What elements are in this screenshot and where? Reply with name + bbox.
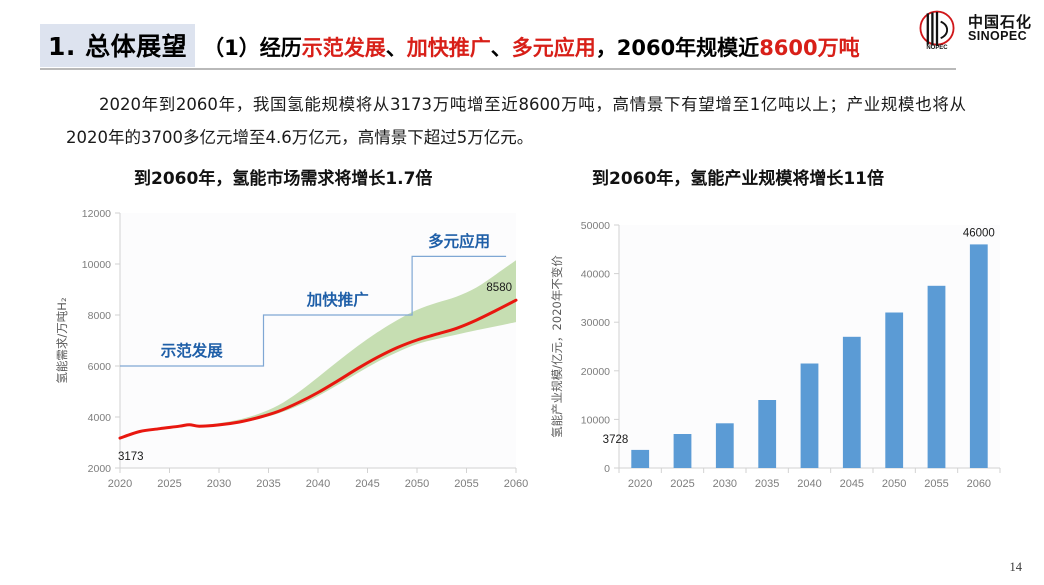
plot-area-background	[120, 213, 516, 468]
x-tick-label: 2055	[454, 478, 478, 490]
title-sep-2: 、	[491, 36, 512, 60]
y-tick-label: 4000	[88, 412, 112, 424]
x-tick-label: 2045	[840, 478, 864, 490]
slide-canvas: NOPEC 中国石化 SINOPEC 1. 总体展望 （1）经历示范发展、加快推…	[0, 0, 1044, 585]
x-tick-label: 2040	[306, 478, 330, 490]
x-tick-label: 2020	[628, 478, 652, 490]
x-tick-label: 2020	[108, 478, 132, 490]
y-tick-label: 0	[604, 463, 610, 475]
bar-2030	[716, 423, 734, 468]
x-tick-label: 2040	[797, 478, 821, 490]
phase-label-加快推广: 加快推广	[306, 290, 369, 309]
title-sep-1: 、	[386, 36, 407, 60]
title-section-chip: 1. 总体展望	[40, 24, 195, 67]
chart-title-demand: 到2060年，氢能市场需求将增长1.7倍	[134, 164, 432, 189]
y-axis-title: 氢能产业规模/亿元，2020年不变价	[550, 255, 564, 438]
x-tick-label: 2035	[755, 478, 779, 490]
svg-text:NOPEC: NOPEC	[926, 45, 948, 51]
y-tick-label: 10000	[581, 414, 610, 426]
y-tick-label: 20000	[581, 366, 610, 378]
x-tick-label: 2045	[355, 478, 379, 490]
data-label-8580: 8580	[486, 282, 512, 294]
chart-hydrogen-demand: 2000400060008000100001200020202025203020…	[48, 205, 528, 500]
y-tick-label: 2000	[88, 463, 112, 475]
y-tick-label: 8000	[88, 310, 112, 322]
x-tick-label: 2025	[157, 478, 181, 490]
bar-2025	[674, 434, 692, 468]
y-tick-label: 6000	[88, 361, 112, 373]
data-label-3728: 3728	[603, 434, 629, 446]
title-keyword-2: 加快推广	[407, 36, 491, 60]
x-tick-label: 2060	[504, 478, 528, 490]
data-label-3173: 3173	[118, 451, 144, 463]
bar-2055	[928, 286, 946, 468]
x-tick-label: 2030	[713, 478, 737, 490]
bar-2050	[885, 313, 903, 469]
phase-label-示范发展: 示范发展	[161, 341, 224, 360]
sinopec-logo: NOPEC 中国石化 SINOPEC	[914, 6, 1032, 52]
title-middle: ，2060年规模近	[596, 36, 759, 60]
x-tick-label: 2060	[967, 478, 991, 490]
title-statement: （1）经历示范发展、加快推广、多元应用，2060年规模近8600万吨	[203, 32, 860, 62]
sinopec-logo-icon: NOPEC	[914, 6, 960, 52]
x-tick-label: 2050	[405, 478, 429, 490]
y-axis-title: 氢能需求/万吨H₂	[55, 297, 69, 383]
logo-text-cn: 中国石化	[968, 15, 1032, 31]
chart-hydrogen-industry-scale-svg: 01000020000300004000050000氢能产业规模/亿元，2020…	[545, 205, 1010, 500]
chart-hydrogen-industry-scale: 01000020000300004000050000氢能产业规模/亿元，2020…	[545, 205, 1010, 500]
y-tick-label: 30000	[581, 317, 610, 329]
bar-2045	[843, 337, 861, 468]
y-tick-label: 40000	[581, 269, 610, 281]
x-tick-label: 2050	[882, 478, 906, 490]
phase-label-多元应用: 多元应用	[428, 231, 490, 250]
chart-title-scale: 到2060年，氢能产业规模将增长11倍	[592, 164, 884, 189]
title-prefix: （1）经历	[203, 36, 302, 60]
x-tick-label: 2035	[256, 478, 280, 490]
bar-2020	[631, 450, 649, 468]
slide-title: 1. 总体展望 （1）经历示范发展、加快推广、多元应用，2060年规模近8600…	[40, 24, 860, 67]
bar-2040	[801, 364, 819, 469]
y-tick-label: 50000	[581, 220, 610, 232]
title-keyword-1: 示范发展	[302, 36, 386, 60]
bar-2035	[758, 400, 776, 468]
title-keyword-4: 8600万吨	[759, 36, 859, 60]
data-label-46000: 46000	[963, 227, 995, 239]
chart-hydrogen-demand-svg: 2000400060008000100001200020202025203020…	[48, 205, 528, 500]
logo-text-en: SINOPEC	[968, 30, 1032, 43]
body-paragraph: 2020年到2060年，我国氢能规模将从3173万吨增至近8600万吨，高情景下…	[66, 88, 966, 154]
x-tick-label: 2030	[207, 478, 231, 490]
y-tick-label: 10000	[82, 259, 111, 271]
title-keyword-3: 多元应用	[512, 36, 596, 60]
page-number: 14	[1010, 560, 1023, 575]
x-tick-label: 2055	[924, 478, 948, 490]
bar-2060	[970, 244, 988, 468]
title-divider	[40, 68, 956, 70]
x-tick-label: 2025	[670, 478, 694, 490]
y-tick-label: 12000	[82, 208, 111, 220]
